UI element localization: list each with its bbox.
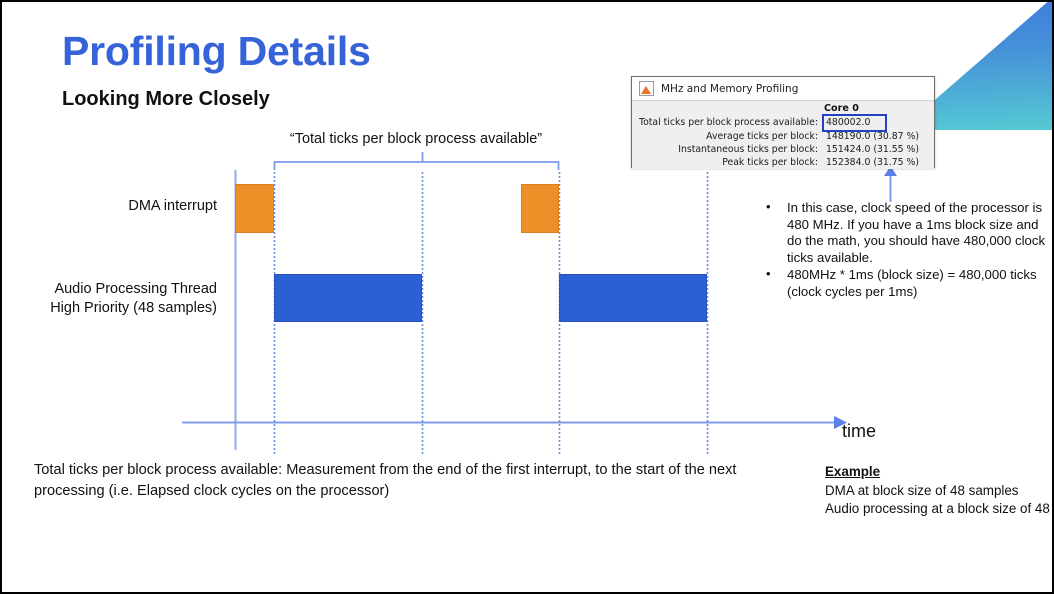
bullet-list: In this case, clock speed of the process… bbox=[759, 200, 1049, 302]
audio-block bbox=[274, 274, 422, 322]
axis-label-time: time bbox=[842, 421, 876, 442]
bottom-caption: Total ticks per block process available:… bbox=[34, 460, 774, 502]
table-row: Peak ticks per block: 152384.0 (31.75 %) bbox=[632, 157, 934, 170]
bracket-caption: “Total ticks per block process available… bbox=[274, 131, 558, 147]
example-line-1: DMA at block size of 48 samples bbox=[825, 482, 1050, 501]
panel-title: MHz and Memory Profiling bbox=[661, 83, 798, 95]
row-value: 151424.0 (31.55 %) bbox=[826, 144, 919, 155]
list-item: In this case, clock speed of the process… bbox=[759, 200, 1049, 266]
slide-canvas: Profiling Details Looking More Closely “… bbox=[0, 0, 1054, 594]
dma-block bbox=[235, 184, 274, 233]
page-title: Profiling Details bbox=[62, 28, 371, 75]
panel-body: Core 0 Total ticks per block process ava… bbox=[632, 100, 934, 169]
app-icon bbox=[639, 81, 654, 96]
row-label: Average ticks per block: bbox=[632, 131, 818, 142]
example-line-2: Audio processing at a block size of 48 bbox=[825, 500, 1050, 519]
audio-block bbox=[559, 274, 707, 322]
list-item: 480MHz * 1ms (block size) = 480,000 tick… bbox=[759, 267, 1049, 300]
row-label: Instantaneous ticks per block: bbox=[632, 144, 818, 155]
panel-titlebar: MHz and Memory Profiling bbox=[632, 77, 934, 100]
table-row: Average ticks per block: 148190.0 (30.87… bbox=[632, 131, 934, 144]
row-value: 148190.0 (30.87 %) bbox=[826, 131, 919, 142]
row-label: Peak ticks per block: bbox=[632, 157, 818, 168]
dma-block bbox=[521, 184, 559, 233]
row-value: 152384.0 (31.75 %) bbox=[826, 157, 919, 168]
track-label-dma: DMA interrupt bbox=[37, 197, 217, 216]
example-title: Example bbox=[825, 463, 1050, 482]
profiling-panel[interactable]: MHz and Memory Profiling Core 0 Total ti… bbox=[631, 76, 935, 168]
table-row: Instantaneous ticks per block: 151424.0 … bbox=[632, 144, 934, 157]
row-label: Total ticks per block process available: bbox=[632, 117, 818, 128]
example-block: Example DMA at block size of 48 samples … bbox=[825, 463, 1050, 519]
track-label-audio-line2: High Priority (48 samples) bbox=[17, 299, 217, 318]
page-subtitle: Looking More Closely bbox=[62, 88, 270, 111]
track-label-audio-line1: Audio Processing Thread bbox=[17, 280, 217, 299]
track-label-audio: Audio Processing Thread High Priority (4… bbox=[17, 280, 217, 318]
table-row: Total ticks per block process available:… bbox=[632, 117, 934, 130]
highlight-box bbox=[822, 114, 887, 132]
